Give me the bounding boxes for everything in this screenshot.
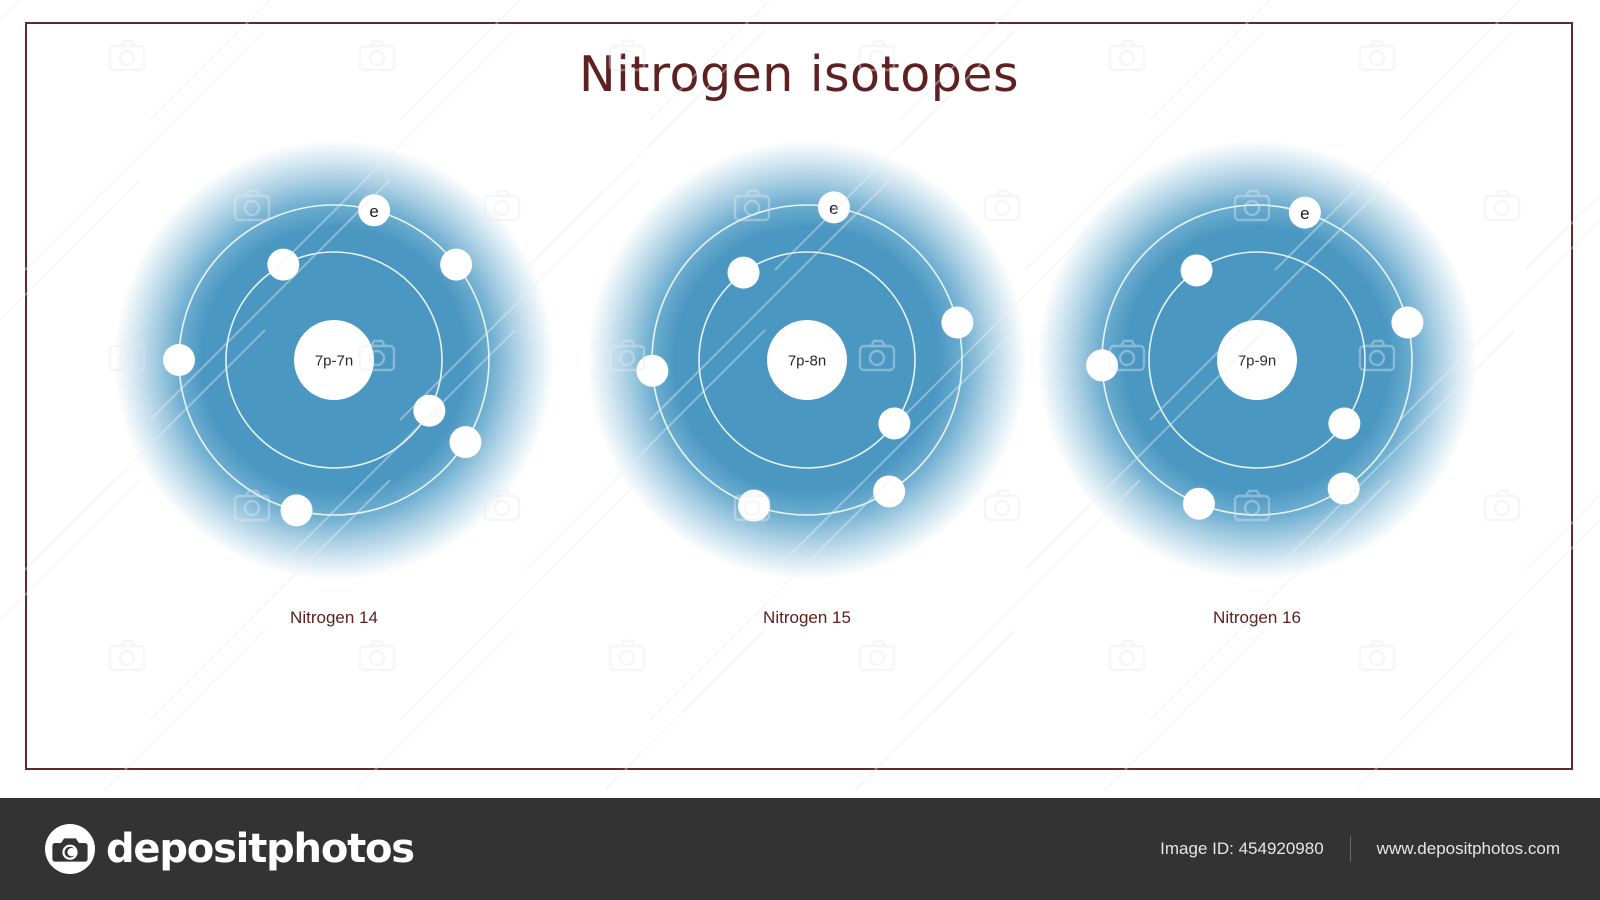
- electron: [1181, 254, 1213, 286]
- atom-caption: Nitrogen 14: [104, 608, 564, 628]
- atom-model: 7p-8ne: [577, 130, 1037, 590]
- electron: [738, 490, 770, 522]
- footer-meta: Image ID: 454920980 www.depositphotos.co…: [1160, 836, 1560, 862]
- electron: [1391, 307, 1423, 339]
- electron-label: e: [369, 202, 378, 221]
- brand-name: depositphotos: [106, 826, 414, 872]
- electron: [636, 355, 668, 387]
- atom-stage: 7p-8ne: [577, 130, 1037, 590]
- atom-caption: Nitrogen 15: [577, 608, 1037, 628]
- atom-figure-3: 7p-9neNitrogen 16: [1027, 130, 1487, 690]
- electron: [1328, 473, 1360, 505]
- camera-icon: [44, 823, 96, 875]
- electron: [873, 475, 905, 507]
- atom-figure-2: 7p-8neNitrogen 15: [577, 130, 1037, 690]
- footer-divider: [1350, 836, 1351, 862]
- image-id-label: Image ID: 454920980: [1160, 839, 1324, 859]
- illustration-panel: Nitrogen isotopes 7p-7neNitrogen 147p-8n…: [25, 22, 1573, 770]
- atom-stage: 7p-7ne: [104, 130, 564, 590]
- electron: [1086, 349, 1118, 381]
- electron: [1328, 407, 1360, 439]
- electron: [440, 249, 472, 281]
- brand-logo[interactable]: depositphotos: [44, 823, 414, 875]
- atom-stage: 7p-9ne: [1027, 130, 1487, 590]
- page-title: Nitrogen isotopes: [27, 46, 1571, 103]
- electron: [163, 344, 195, 376]
- website-link[interactable]: www.depositphotos.com: [1377, 839, 1560, 859]
- nucleus-label: 7p-9n: [1238, 353, 1276, 370]
- electron: [941, 307, 973, 339]
- electron: [281, 494, 313, 526]
- electron: [728, 257, 760, 289]
- electron: [267, 249, 299, 281]
- atom-model: 7p-7ne: [104, 130, 564, 590]
- atom-caption: Nitrogen 16: [1027, 608, 1487, 628]
- electron: [449, 426, 481, 458]
- electron: [413, 395, 445, 427]
- nucleus-label: 7p-8n: [788, 353, 826, 370]
- atom-diagram-row: 7p-7neNitrogen 147p-8neNitrogen 157p-9ne…: [27, 130, 1571, 690]
- electron: [1183, 488, 1215, 520]
- electron-label: e: [829, 199, 838, 218]
- electron: [878, 407, 910, 439]
- nucleus-label: 7p-7n: [315, 353, 353, 370]
- atom-model: 7p-9ne: [1027, 130, 1487, 590]
- footer-bar: depositphotos Image ID: 454920980 www.de…: [0, 798, 1600, 900]
- atom-figure-1: 7p-7neNitrogen 14: [104, 130, 564, 690]
- electron-label: e: [1300, 204, 1309, 223]
